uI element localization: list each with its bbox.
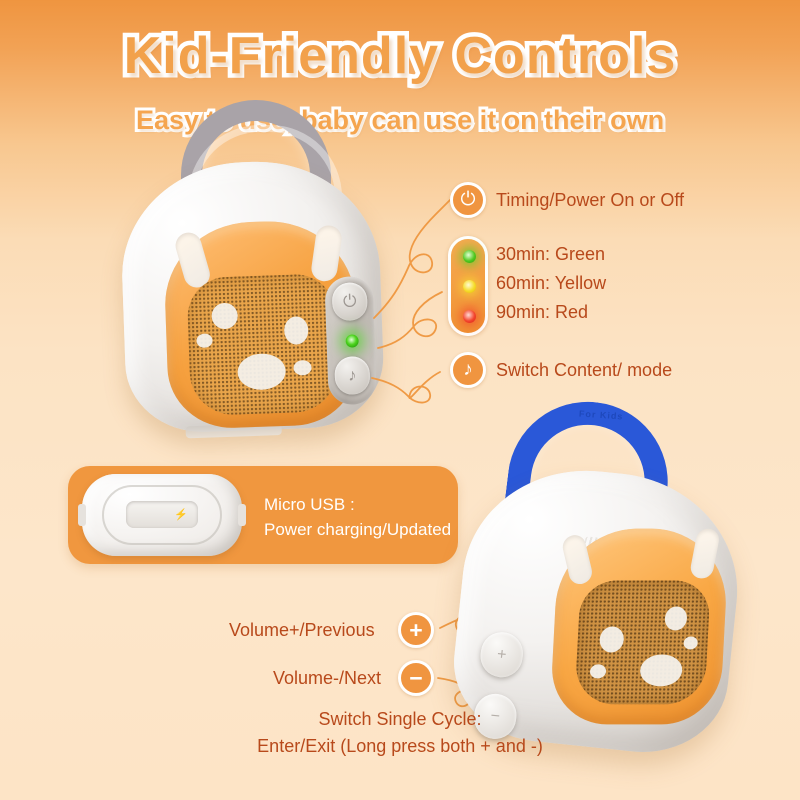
volume-up-annotation-label: Volume+/Previous bbox=[229, 620, 375, 641]
music-button[interactable]: ♪ bbox=[334, 356, 370, 395]
timer-led-indicator bbox=[448, 236, 488, 336]
status-led bbox=[345, 334, 358, 347]
led-red-icon bbox=[463, 310, 476, 323]
footer-line2: Enter/Exit (Long press both + and -) bbox=[0, 733, 800, 760]
led-yellow-icon bbox=[463, 280, 476, 293]
music-annotation-label: Switch Content/ mode bbox=[496, 360, 672, 381]
speaker-mesh-grille bbox=[186, 273, 339, 416]
minus-icon: − bbox=[398, 660, 434, 696]
micro-usb-line1: Micro USB : bbox=[264, 492, 451, 517]
infographic-canvas: Kid-Friendly Controls Easy to use, baby … bbox=[0, 0, 800, 800]
footer-line1: Switch Single Cycle: bbox=[0, 706, 800, 733]
footer-text: Switch Single Cycle: Enter/Exit (Long pr… bbox=[0, 706, 800, 760]
micro-usb-line2: Power charging/Updated bbox=[264, 517, 451, 542]
plus-icon: + bbox=[398, 612, 434, 648]
device-back-view: ⚡ bbox=[82, 474, 242, 556]
device-tab-left bbox=[78, 504, 86, 526]
speaker-body: ⏻ ♪ bbox=[118, 158, 385, 435]
power-annotation-label: Timing/Power On or Off bbox=[496, 190, 684, 211]
volume-down-annotation-label: Volume-/Next bbox=[273, 668, 381, 689]
speaker-mesh-grille bbox=[574, 581, 711, 705]
micro-usb-text: Micro USB : Power charging/Updated bbox=[264, 492, 451, 542]
bear-ear-right-icon bbox=[689, 527, 721, 580]
micro-usb-port: ⚡ bbox=[126, 501, 198, 528]
volume-up-button[interactable]: + bbox=[479, 630, 525, 679]
led-green-icon bbox=[463, 250, 476, 263]
bear-cheek-right-icon bbox=[683, 636, 698, 649]
bear-cheek-left-icon bbox=[196, 333, 212, 348]
device-tab-right bbox=[238, 504, 246, 526]
bear-nose-icon bbox=[237, 353, 286, 391]
bear-eye-left-icon bbox=[599, 626, 624, 652]
bear-eye-right-icon bbox=[664, 607, 687, 631]
page-title: Kid-Friendly Controls bbox=[0, 30, 800, 82]
micro-usb-card: ⚡ Micro USB : Power charging/Updated bbox=[68, 466, 458, 564]
power-icon: ⏻ bbox=[450, 182, 486, 218]
bear-speaker-front-view: ⏻ ♪ bbox=[95, 100, 405, 445]
bear-nose-icon bbox=[639, 654, 683, 686]
bear-ear-right-icon bbox=[310, 224, 344, 283]
bear-eye-left-icon bbox=[211, 303, 238, 330]
led-90min-label: 90min: Red bbox=[496, 302, 588, 323]
power-button[interactable]: ⏻ bbox=[332, 282, 368, 321]
bear-cheek-left-icon bbox=[590, 664, 607, 678]
bear-cheek-right-icon bbox=[293, 360, 312, 376]
speaker-side-control-strip: ⏻ ♪ bbox=[324, 276, 376, 406]
bear-face-panel bbox=[549, 529, 729, 725]
led-60min-label: 60min: Yellow bbox=[496, 273, 606, 294]
bear-eye-right-icon bbox=[284, 316, 309, 345]
led-30min-label: 30min: Green bbox=[496, 244, 605, 265]
music-note-icon: ♪ bbox=[450, 352, 486, 388]
